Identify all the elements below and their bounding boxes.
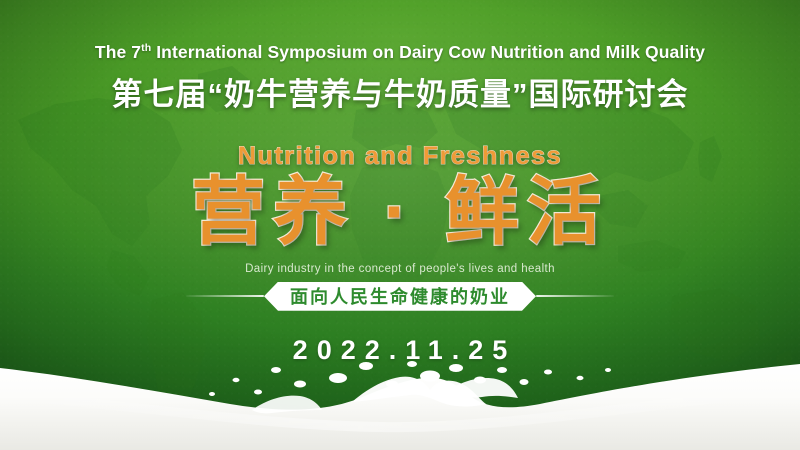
header-english-part2: International Symposium on Dairy Cow Nut… [151, 42, 705, 62]
banner-chinese-text: 面向人民生命健康的奶业 [290, 283, 510, 309]
banner-rule-left [186, 295, 264, 297]
slogan-chinese: 营养 · 鲜活 [191, 173, 609, 251]
banner-rule-right [536, 295, 614, 297]
conference-poster: The 7th International Symposium on Dairy… [0, 0, 800, 450]
header-chinese-title: 第七届“奶牛营养与牛奶质量”国际研讨会 [112, 69, 689, 114]
subtitle-banner-row: 面向人民生命健康的奶业 [140, 282, 660, 311]
poster-content: The 7th International Symposium on Dairy… [0, 0, 800, 450]
subtitle-banner: 面向人民生命健康的奶业 [264, 282, 536, 311]
header-english-part1: The 7 [95, 42, 141, 62]
header-ordinal-suffix: th [141, 42, 151, 54]
slogan-english: Nutrition and Freshness [238, 142, 562, 171]
header-english-title: The 7th International Symposium on Dairy… [95, 42, 705, 63]
event-date: 2022.11.25 [284, 335, 517, 366]
subtitle-english: Dairy industry in the concept of people'… [245, 263, 555, 275]
